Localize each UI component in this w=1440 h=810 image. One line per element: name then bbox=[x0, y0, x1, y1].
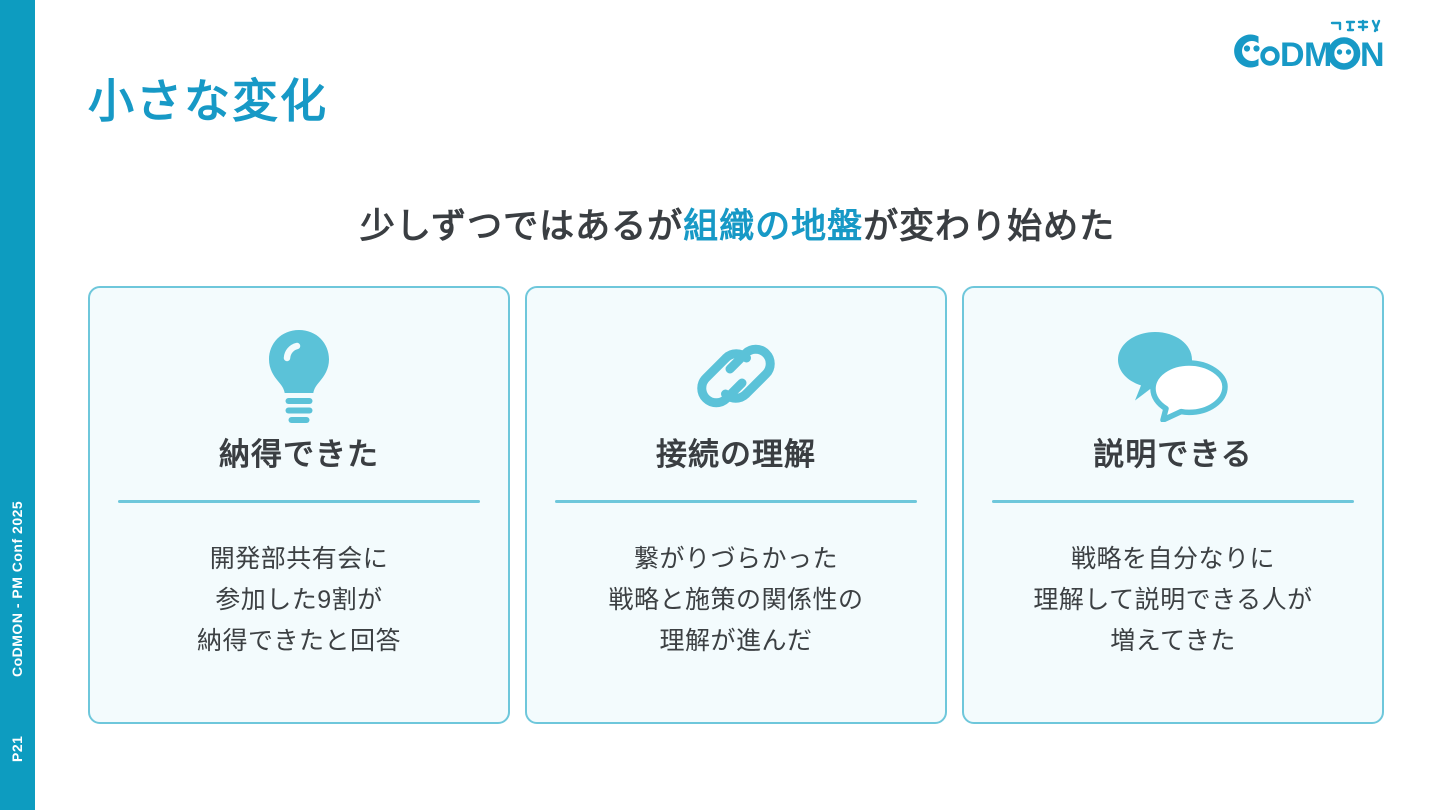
sidebar-page-number: P21 bbox=[0, 726, 35, 772]
card-body-text: 戦略を自分なりに 理解して説明できる人が 増えてきた bbox=[1033, 539, 1312, 662]
logo-o-face-glyph bbox=[1331, 41, 1357, 67]
svg-text:DM: DM bbox=[1280, 36, 1332, 74]
svg-text:N: N bbox=[1360, 36, 1385, 74]
outcome-card-group: 納得できた 開発部共有会に 参加した9割が 納得できたと回答 接続の理解 繋がり… bbox=[88, 286, 1384, 724]
link-chain-icon bbox=[684, 318, 788, 434]
card-heading: 接続の理解 bbox=[656, 436, 816, 473]
outcome-card: 納得できた 開発部共有会に 参加した9割が 納得できたと回答 bbox=[88, 286, 510, 724]
outcome-card: 説明できる 戦略を自分なりに 理解して説明できる人が 増えてきた bbox=[962, 286, 1384, 724]
card-body-text: 繋がりづらかった 戦略と施策の関係性の 理解が進んだ bbox=[608, 539, 863, 662]
card-divider bbox=[992, 500, 1354, 503]
subtitle-lead: 少しずつではあるが bbox=[360, 207, 683, 246]
page-title: 小さな変化 bbox=[88, 74, 328, 129]
left-accent-sidebar: CoDMON - PM Conf 2025 P21 bbox=[0, 0, 35, 810]
codmon-logo: DM N bbox=[1228, 16, 1408, 76]
subtitle-tail: が変わり始めた bbox=[863, 207, 1115, 246]
card-heading: 説明できる bbox=[1093, 436, 1252, 473]
logo-c-glyph bbox=[1234, 35, 1259, 68]
outcome-card: 接続の理解 繋がりづらかった 戦略と施策の関係性の 理解が進んだ bbox=[525, 286, 947, 724]
card-divider bbox=[118, 500, 480, 503]
card-body-text: 開発部共有会に 参加した9割が 納得できたと回答 bbox=[197, 539, 401, 662]
sidebar-deck-label: CoDMON - PM Conf 2025 bbox=[0, 484, 35, 694]
logo-ruby-katakana bbox=[1332, 21, 1379, 31]
card-divider bbox=[555, 500, 917, 503]
slide-subtitle: 少しずつではあるが組織の地盤が変わり始めた bbox=[35, 205, 1440, 249]
subtitle-highlight: 組織の地盤 bbox=[683, 207, 863, 246]
card-heading: 納得できた bbox=[219, 436, 379, 473]
speech-bubbles-icon bbox=[1117, 318, 1229, 434]
lightbulb-icon bbox=[262, 318, 336, 434]
